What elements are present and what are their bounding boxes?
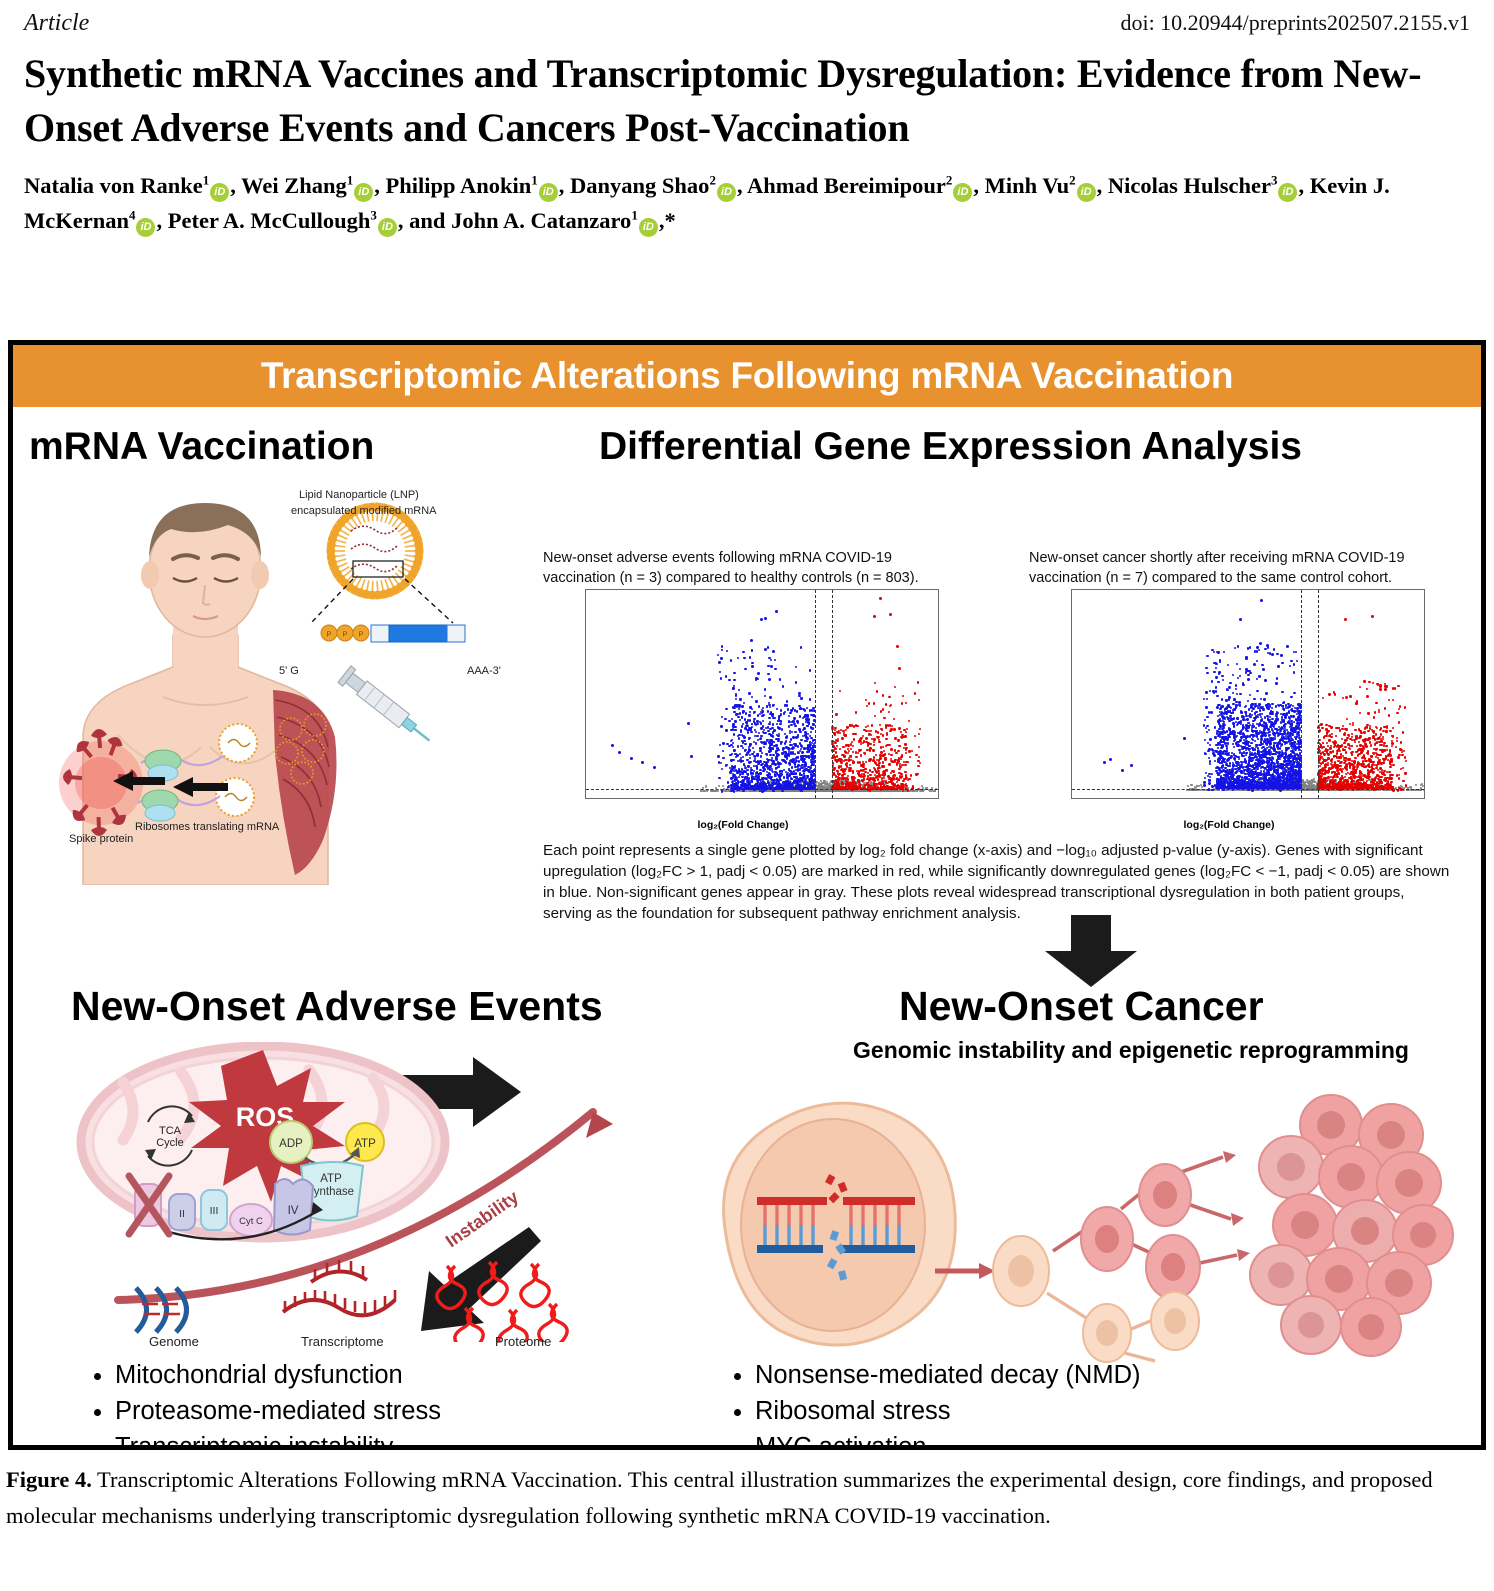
data-point: [898, 772, 900, 774]
data-point: [720, 762, 722, 764]
data-point: [804, 782, 806, 784]
data-point: [891, 790, 893, 792]
orcid-icon[interactable]: iD: [953, 183, 972, 202]
data-point: [726, 650, 728, 652]
data-point: [720, 677, 722, 679]
data-point: [776, 708, 778, 710]
data-point: [746, 790, 748, 792]
data-point: [879, 597, 882, 600]
data-point: [743, 736, 745, 738]
data-point: [845, 768, 847, 770]
data-point: [880, 710, 882, 712]
data-point: [918, 699, 920, 701]
data-point: [722, 750, 724, 752]
data-point: [891, 725, 893, 727]
data-point: [807, 755, 809, 757]
data-point: [777, 738, 779, 740]
orcid-icon[interactable]: iD: [539, 183, 558, 202]
data-point: [730, 759, 732, 761]
data-point: [775, 744, 777, 746]
data-point: [721, 649, 723, 651]
data-point: [864, 784, 866, 786]
data-point: [798, 760, 800, 762]
data-point: [908, 720, 910, 722]
data-point: [800, 748, 802, 750]
data-point: [907, 789, 909, 791]
data-point: [774, 668, 776, 670]
data-point: [703, 790, 705, 792]
data-point: [768, 717, 770, 719]
data-point: [794, 744, 796, 746]
data-point: [900, 758, 902, 760]
data-point: [767, 782, 769, 784]
volcano-2-title: New-onset cancer shortly after receiving…: [1029, 549, 1429, 588]
data-point: [884, 772, 886, 774]
data-point: [733, 759, 735, 761]
data-point: [801, 751, 803, 753]
data-point: [876, 764, 878, 766]
data-point: [735, 779, 737, 781]
paper-header: Article doi: 10.20944/preprints202507.21…: [0, 0, 1494, 239]
data-point: [768, 750, 770, 752]
data-point: [851, 776, 853, 778]
data-point: [802, 735, 804, 737]
data-point: [744, 749, 746, 751]
data-point: [850, 755, 852, 757]
data-point: [880, 728, 882, 730]
data-point: [902, 695, 904, 697]
data-point: [917, 760, 919, 762]
data-point: [763, 743, 765, 745]
data-point: [763, 761, 765, 763]
data-point: [759, 773, 761, 775]
data-point: [724, 718, 726, 720]
data-point: [872, 790, 874, 792]
data-point: [721, 768, 723, 770]
data-point: [826, 781, 828, 783]
data-point: [874, 715, 876, 717]
data-point: [769, 754, 771, 756]
data-point: [887, 724, 889, 726]
data-point: [806, 737, 808, 739]
data-point: [749, 754, 751, 756]
data-point: [794, 725, 796, 727]
data-point: [792, 736, 794, 738]
data-point: [918, 756, 920, 758]
data-point: [897, 739, 899, 741]
data-point: [865, 741, 867, 743]
data-point: [735, 698, 737, 700]
data-point: [855, 756, 857, 758]
data-point: [914, 735, 916, 737]
data-point: [864, 768, 866, 770]
data-point: [797, 752, 799, 754]
data-point: [845, 729, 847, 731]
data-point: [722, 742, 724, 744]
data-point: [882, 734, 884, 736]
data-point: [918, 746, 920, 748]
data-point: [757, 739, 759, 741]
data-point: [917, 681, 919, 683]
data-point: [901, 702, 903, 704]
data-point: [747, 731, 749, 733]
data-point: [800, 790, 802, 792]
data-point: [875, 730, 877, 732]
data-point: [772, 790, 774, 792]
data-point: [690, 755, 693, 758]
data-point: [869, 747, 871, 749]
data-point: [733, 790, 735, 792]
data-point: [784, 742, 786, 744]
data-point: [812, 771, 814, 773]
data-point: [893, 728, 895, 730]
data-point: [740, 730, 742, 732]
data-point: [869, 774, 871, 776]
data-point: [749, 656, 751, 658]
data-point: [806, 775, 808, 777]
data-point: [834, 782, 836, 784]
volcano-plot-new-onset-cancer: -log₁₀(Adjusted p-value) 050100150200250…: [1029, 589, 1429, 829]
data-point: [757, 672, 760, 675]
data-point: [856, 725, 858, 727]
data-point: [800, 784, 802, 786]
data-point: [767, 730, 769, 732]
author-name: Peter A. McCullough: [168, 208, 371, 233]
data-point: [786, 754, 788, 756]
data-point: [844, 734, 846, 736]
data-point: [894, 737, 896, 739]
data-point: [757, 714, 759, 716]
data-point: [885, 703, 887, 705]
data-point: [852, 745, 854, 747]
data-point: [858, 774, 860, 776]
orcid-icon[interactable]: iD: [639, 218, 658, 237]
banner-title: Transcriptomic Alterations Following mRN…: [261, 355, 1233, 397]
data-point: [859, 738, 861, 740]
data-point: [919, 728, 921, 730]
data-point: [811, 709, 813, 711]
data-point: [894, 686, 896, 688]
author-affiliation-sup: 1: [203, 173, 210, 188]
data-point: [764, 617, 767, 620]
data-point: [805, 764, 807, 766]
data-point: [837, 790, 839, 792]
data-point: [743, 790, 745, 792]
author-name: and John A. Catanzaro: [409, 208, 631, 233]
data-point: [873, 702, 875, 704]
data-point: [870, 730, 872, 732]
data-point: [751, 662, 753, 664]
data-point: [779, 723, 781, 725]
data-point: [764, 688, 766, 690]
data-point: [726, 764, 728, 766]
data-point: [788, 715, 790, 717]
data-point: [885, 738, 887, 740]
data-point: [854, 733, 856, 735]
data-point: [762, 725, 764, 727]
data-point: [803, 748, 805, 750]
data-point: [770, 659, 772, 661]
data-point: [835, 713, 837, 715]
data-point: [788, 768, 790, 770]
data-point: [809, 790, 811, 792]
data-point: [875, 790, 877, 792]
data-point: [719, 671, 721, 673]
data-point: [904, 764, 906, 766]
data-point: [905, 752, 907, 754]
data-point: [787, 708, 789, 710]
data-point: [1310, 782, 1312, 784]
data-point: [742, 779, 744, 781]
data-point: [721, 790, 723, 792]
data-point: [730, 659, 732, 661]
data-point: [795, 666, 797, 668]
data-point: [857, 752, 859, 754]
data-point: [770, 734, 772, 736]
data-point: [751, 778, 753, 780]
data-point: [755, 742, 757, 744]
mrna-vaccination-illustration: P P P Li: [23, 485, 493, 885]
data-point: [785, 746, 787, 748]
data-point: [874, 738, 876, 740]
data-point: [888, 781, 890, 783]
data-point: [738, 768, 740, 770]
data-point: [749, 743, 751, 745]
header-row: Article doi: 10.20944/preprints202507.21…: [24, 10, 1470, 37]
data-point: [762, 770, 764, 772]
data-point: [810, 767, 812, 769]
data-point: [875, 754, 877, 756]
data-point: [836, 755, 838, 757]
data-point: [892, 777, 894, 779]
data-point: [796, 720, 798, 722]
data-point: [783, 776, 785, 778]
data-point: [761, 752, 763, 754]
data-point: [734, 729, 736, 731]
data-point: [794, 731, 796, 733]
data-point: [793, 717, 795, 719]
data-point: [795, 681, 797, 683]
data-point: [739, 719, 741, 721]
data-point: [849, 764, 851, 766]
orcid-icon[interactable]: iD: [136, 218, 155, 237]
orcid-icon[interactable]: iD: [210, 183, 229, 202]
data-point: [770, 665, 773, 668]
data-point: [750, 761, 752, 763]
data-point: [786, 700, 788, 702]
lnp-label-line1: Lipid Nanoparticle (LNP): [299, 489, 419, 501]
author-affiliation-sup: 2: [946, 173, 953, 188]
data-point: [717, 755, 719, 757]
data-point: [851, 770, 853, 772]
data-point: [774, 775, 776, 777]
data-point: [760, 618, 763, 621]
author-affiliation-sup: 1: [631, 207, 638, 222]
data-point: [744, 668, 746, 670]
spike-protein-label: Spike protein: [69, 833, 133, 845]
orcid-icon[interactable]: iD: [378, 218, 397, 237]
data-point: [896, 790, 898, 792]
data-point: [871, 771, 873, 773]
data-point: [752, 772, 754, 774]
data-point: [741, 705, 743, 707]
orcid-icon[interactable]: iD: [717, 183, 736, 202]
figure-banner: Transcriptomic Alterations Following mRN…: [13, 345, 1481, 407]
data-point: [706, 790, 708, 792]
data-point: [722, 785, 724, 787]
data-point: [747, 729, 749, 731]
data-point: [735, 784, 737, 786]
data-point: [729, 771, 731, 773]
data-point: [799, 729, 801, 731]
data-point: [800, 697, 802, 699]
data-point: [899, 745, 901, 747]
data-point: [917, 765, 919, 767]
data-point: [882, 761, 884, 763]
data-point: [890, 728, 892, 730]
data-point: [776, 723, 778, 725]
data-point: [824, 790, 826, 792]
data-point: [754, 735, 756, 737]
author-name: Danyang Shao: [570, 173, 709, 198]
data-point: [764, 695, 766, 697]
data-point: [904, 771, 906, 773]
data-point: [873, 756, 875, 758]
five-prime-label: 5' G: [279, 665, 299, 677]
data-point: [755, 700, 757, 702]
data-point: [738, 689, 740, 691]
data-point: [905, 748, 907, 750]
data-point: [904, 735, 906, 737]
data-point: [725, 729, 727, 731]
data-point: [852, 783, 854, 785]
data-point: [738, 705, 740, 707]
data-point: [719, 744, 721, 746]
volcano-1-title: New-onset adverse events following mRNA …: [543, 549, 943, 588]
data-point: [902, 790, 904, 792]
data-point: [896, 781, 898, 783]
author-affiliation-sup: 4: [129, 207, 136, 222]
data-point: [791, 731, 793, 733]
data-point: [898, 727, 900, 729]
data-point: [895, 752, 897, 754]
data-point: [873, 615, 876, 618]
data-point: [737, 745, 739, 747]
author-name: Philipp Anokin: [386, 173, 532, 198]
data-point: [738, 776, 740, 778]
data-point: [739, 712, 741, 714]
data-point: [788, 781, 790, 783]
data-point: [718, 785, 720, 787]
data-point: [897, 759, 899, 761]
orcid-icon[interactable]: iD: [1077, 183, 1096, 202]
data-point: [611, 744, 614, 747]
section-title-mrna-vaccination: mRNA Vaccination: [29, 425, 374, 469]
data-point: [733, 749, 735, 751]
data-point: [744, 743, 746, 745]
data-point: [904, 743, 906, 745]
data-point: [799, 777, 801, 779]
data-point: [876, 690, 878, 692]
data-point: [777, 726, 779, 728]
data-point: [782, 759, 784, 761]
data-point: [837, 731, 839, 733]
data-point: [769, 696, 771, 698]
data-point: [749, 737, 751, 739]
data-point: [762, 780, 764, 782]
data-point: [768, 678, 771, 681]
data-point: [914, 692, 916, 694]
data-point: [728, 745, 730, 747]
author-name: Nicolas Hulscher: [1108, 173, 1271, 198]
author-name: Natalia von Ranke: [24, 173, 203, 198]
data-point: [738, 737, 740, 739]
data-point: [784, 711, 786, 713]
data-point: [874, 682, 876, 684]
data-point: [721, 716, 723, 718]
data-point: [761, 715, 763, 717]
data-point: [841, 737, 843, 739]
data-point: [906, 728, 908, 730]
author-affiliation-sup: 3: [1271, 173, 1278, 188]
data-point: [781, 790, 783, 792]
data-point: [803, 727, 805, 729]
data-point: [718, 777, 720, 779]
data-point: [774, 659, 776, 661]
data-point: [807, 719, 809, 721]
data-point: [717, 654, 719, 656]
data-point: [911, 750, 913, 752]
data-point: [720, 657, 722, 659]
data-point: [908, 750, 910, 752]
data-point: [883, 750, 885, 752]
data-point: [733, 679, 735, 681]
data-point: [760, 755, 762, 757]
data-point: [733, 672, 735, 674]
data-point: [732, 687, 734, 689]
author-affiliation-sup: 2: [709, 173, 716, 188]
data-point: [726, 743, 728, 745]
article-type-label: Article: [24, 10, 89, 37]
data-point: [780, 720, 782, 722]
author-name: Ahmad Bereimipour: [747, 173, 946, 198]
orcid-icon[interactable]: iD: [1278, 183, 1297, 202]
data-point: [790, 759, 792, 761]
data-point: [763, 789, 765, 791]
data-point: [809, 741, 811, 743]
data-point: [748, 714, 750, 716]
data-point: [840, 790, 842, 792]
data-point: [846, 726, 848, 728]
orcid-icon[interactable]: iD: [354, 183, 373, 202]
data-point: [835, 759, 837, 761]
data-point: [855, 752, 857, 754]
data-point: [898, 667, 901, 670]
data-point: [749, 749, 751, 751]
data-point: [836, 745, 838, 747]
data-point: [771, 747, 773, 749]
data-point: [764, 648, 767, 651]
data-point: [809, 779, 811, 781]
data-point: [890, 758, 892, 760]
data-point: [749, 757, 751, 759]
data-point: [810, 731, 812, 733]
author-affiliation-sup: 2: [1069, 173, 1076, 188]
data-point: [850, 748, 852, 750]
data-point: [771, 757, 773, 759]
data-point: [852, 751, 854, 753]
data-point: [755, 775, 757, 777]
